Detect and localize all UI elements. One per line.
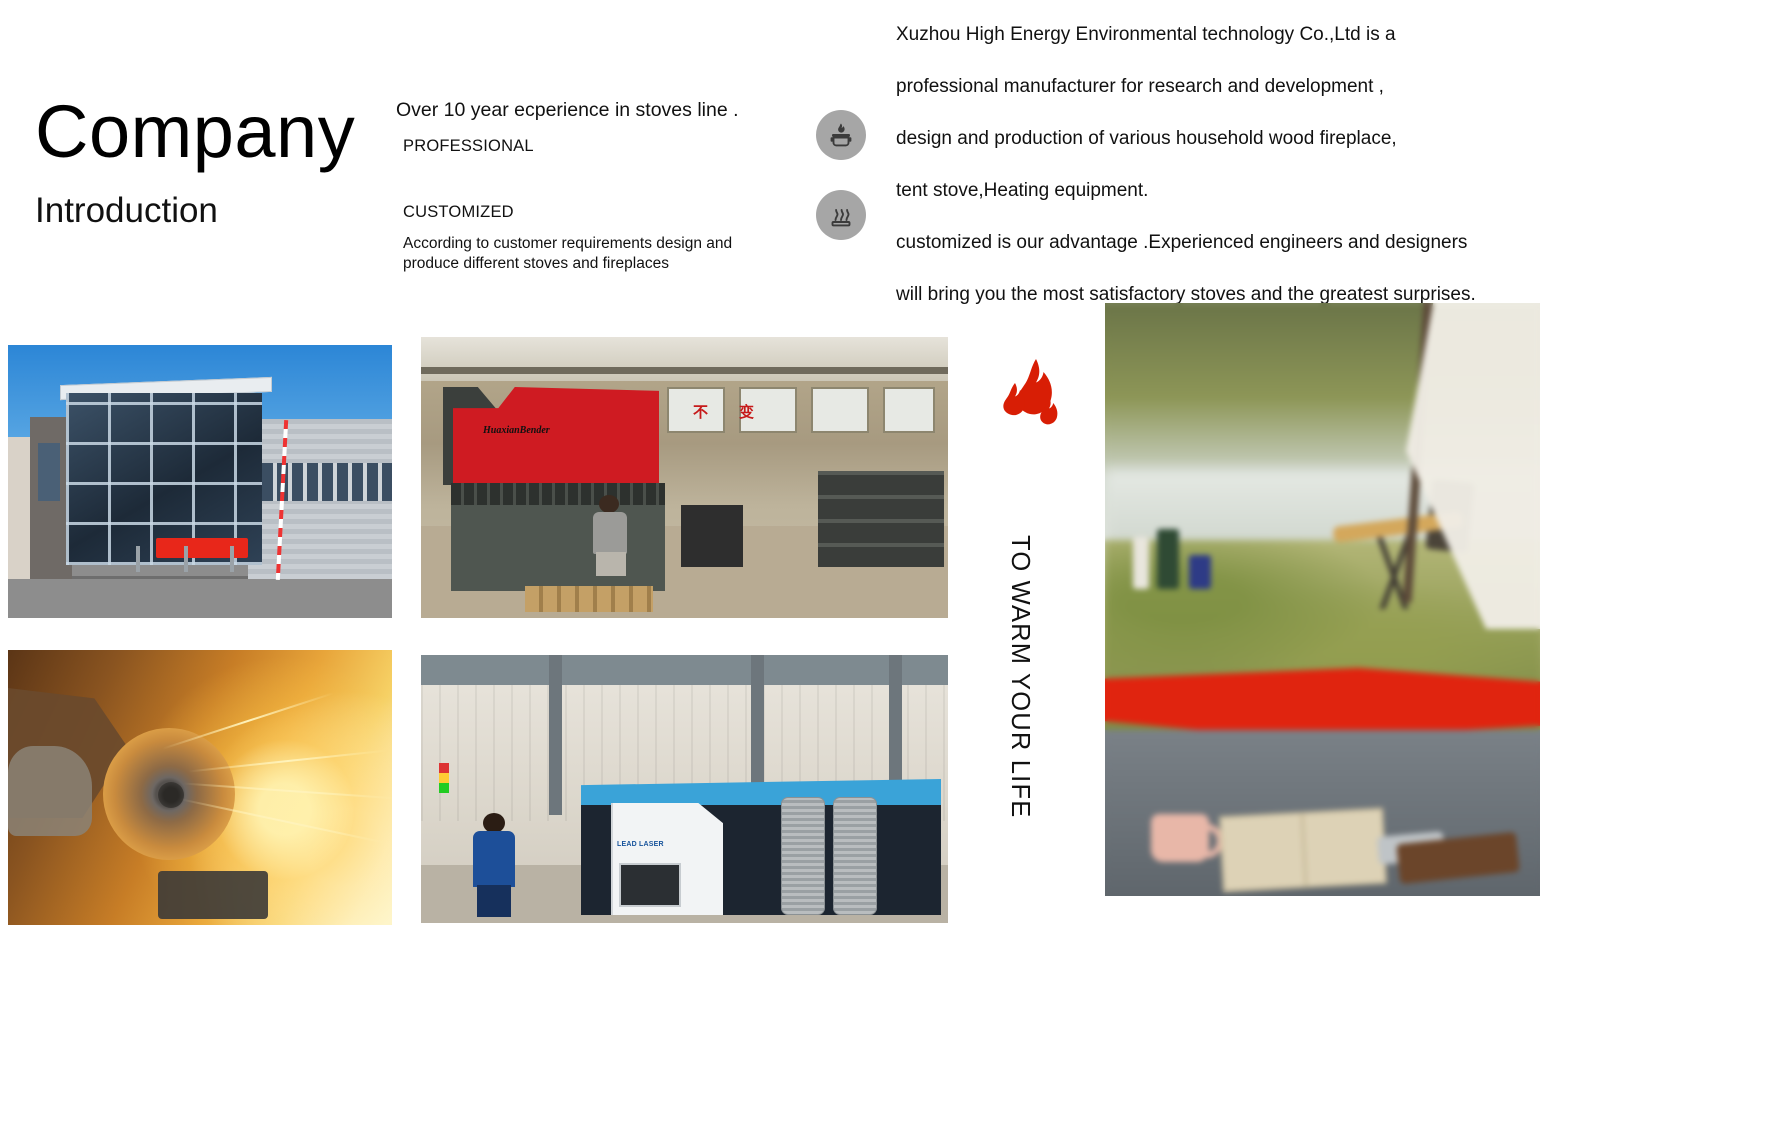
wall-sign-char-2: 变 — [739, 401, 754, 422]
customized-description: According to customer requirements desig… — [403, 234, 778, 274]
company-desc-line-6: will bring you the most satisfactory sto… — [896, 285, 1496, 304]
wall-sign-char-1: 不 — [693, 401, 708, 422]
title-main: Company — [35, 95, 435, 169]
stove-flame-icon — [816, 110, 866, 160]
laser-brand-label: LEAD LASER — [617, 841, 664, 848]
title-sub: Introduction — [35, 191, 435, 231]
wooden-pallet — [525, 586, 653, 612]
machine-brand-label: HuaxianBender — [483, 425, 550, 436]
workshop-roof — [421, 337, 948, 381]
customized-kicker: CUSTOMIZED — [403, 203, 796, 222]
worker-legs — [477, 885, 511, 917]
header-band: Company Introduction Over 10 year ecperi… — [0, 0, 1786, 300]
experience-lead-text: Over 10 year ecperience in stoves line . — [396, 98, 796, 123]
worker-figure — [593, 495, 627, 573]
photo-soft-focus — [1105, 303, 1540, 896]
gas-cylinder — [781, 797, 825, 915]
professional-kicker: PROFESSIONAL — [396, 137, 796, 156]
worker-figure — [473, 813, 515, 917]
signal-tower-light — [439, 763, 449, 793]
page-title: Company Introduction — [35, 95, 435, 231]
worker-head — [599, 495, 619, 513]
window — [811, 387, 869, 433]
company-desc-line-2: professional manufacturer for research a… — [896, 77, 1496, 96]
stove-part-stacks — [818, 471, 944, 567]
company-description-column: Xuzhou High Energy Environmental technol… — [896, 25, 1496, 337]
worker-torso — [593, 512, 627, 554]
cnc-laser-cutter-photo: LEAD LASER — [421, 655, 948, 923]
machine-base — [451, 505, 665, 591]
vertical-slogan: TO WARM YOUR LIFE — [1005, 535, 1034, 818]
tool-cart — [681, 505, 743, 567]
gas-cylinder — [833, 797, 877, 915]
flame-logo-icon — [995, 357, 1067, 437]
worker-legs — [596, 552, 626, 576]
roof-beam — [421, 367, 948, 374]
middle-text-column: Over 10 year ecperience in stoves line .… — [396, 98, 796, 274]
bollard — [184, 546, 188, 572]
red-canopy — [156, 538, 248, 558]
bollard — [230, 546, 234, 572]
company-desc-line-3: design and production of various househo… — [896, 129, 1496, 148]
workpiece-clamp — [158, 871, 268, 919]
press-brake-factory-photo: 不 变 HuaxianBender — [421, 337, 948, 618]
company-desc-line-1: Xuzhou High Energy Environmental technol… — [896, 25, 1496, 44]
company-desc-line-5: customized is our advantage .Experienced… — [896, 233, 1496, 252]
roof-structure — [421, 655, 948, 685]
steel-column — [549, 655, 562, 815]
worker-torso — [473, 831, 515, 887]
worker-head — [483, 813, 505, 833]
camping-tent-stove-photo — [1105, 303, 1540, 896]
press-tooling — [451, 483, 665, 505]
angle-grinder-sparks-photo — [8, 650, 392, 925]
customized-block: CUSTOMIZED According to customer require… — [396, 203, 796, 274]
office-building-photo — [8, 345, 392, 618]
window — [883, 387, 935, 433]
feature-icon-column — [816, 110, 872, 240]
bollard — [136, 546, 140, 572]
operator-hand — [8, 746, 92, 836]
heat-waves-icon — [816, 190, 866, 240]
disc-hub — [158, 782, 184, 808]
company-desc-line-4: tent stove,Heating equipment. — [896, 181, 1496, 200]
hmi-panel[interactable] — [619, 863, 681, 907]
